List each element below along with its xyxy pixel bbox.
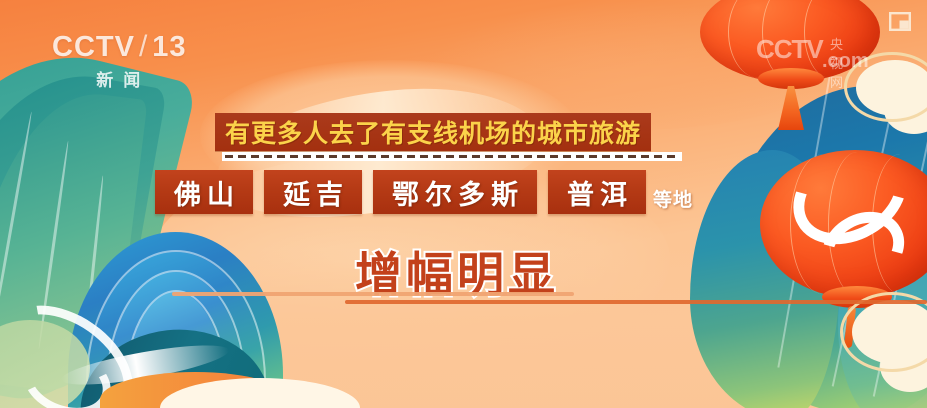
logo-row-primary: CCTV / 13 bbox=[52, 32, 187, 62]
cctv-dot-com-watermark: CCTV .com 央视网 bbox=[756, 36, 823, 62]
lantern-cap bbox=[758, 68, 824, 89]
underline-rule-dark bbox=[345, 300, 927, 304]
watermark-wordmark: CCTV bbox=[756, 36, 823, 62]
picture-in-picture-icon[interactable] bbox=[889, 12, 911, 31]
city-tag-row: 佛山 延吉 鄂尔多斯 普洱 等地 bbox=[155, 170, 693, 214]
cloud-outline-2 bbox=[840, 292, 927, 372]
city-tag-label: 普洱 bbox=[561, 173, 633, 212]
broadcast-graphic: CCTV / 13 新闻 CCTV .com 央视网 有更多人去了有支线机场的城… bbox=[0, 0, 927, 408]
city-tag: 鄂尔多斯 bbox=[373, 170, 537, 214]
channel-name: 新闻 bbox=[52, 66, 187, 91]
city-tag: 佛山 bbox=[155, 170, 253, 214]
cctv-wordmark: CCTV bbox=[52, 33, 135, 62]
headline-banner: 有更多人去了有支线机场的城市旅游 bbox=[215, 113, 651, 151]
logo-slash: / bbox=[139, 32, 148, 62]
headline-text: 有更多人去了有支线机场的城市旅游 bbox=[225, 114, 641, 150]
city-tag-label: 鄂尔多斯 bbox=[386, 173, 524, 212]
city-tag-label: 佛山 bbox=[168, 173, 240, 212]
channel-number: 13 bbox=[152, 33, 186, 62]
city-tag-suffix: 等地 bbox=[653, 185, 693, 212]
lantern-neck bbox=[778, 86, 804, 130]
city-tag: 普洱 bbox=[548, 170, 646, 214]
dashed-divider-dashes bbox=[225, 155, 679, 158]
city-tag: 延吉 bbox=[264, 170, 362, 214]
city-tag-label: 延吉 bbox=[277, 173, 349, 212]
watermark-chinese: 央视网 bbox=[830, 34, 844, 91]
underline-rule-light bbox=[172, 292, 574, 296]
watermark-com: .com bbox=[822, 50, 869, 73]
dashed-divider bbox=[222, 152, 682, 161]
cctv-channel-logo: CCTV / 13 新闻 bbox=[52, 32, 187, 91]
